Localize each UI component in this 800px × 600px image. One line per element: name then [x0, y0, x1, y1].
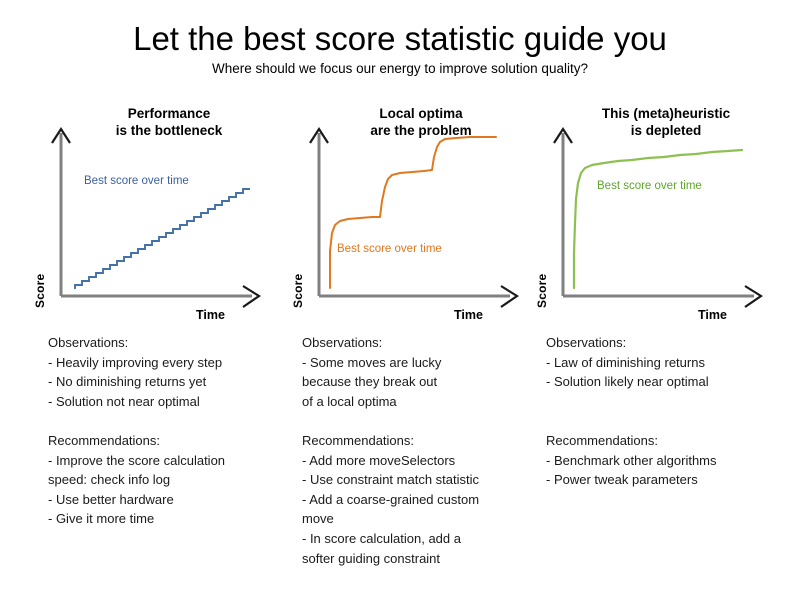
chart-performance-bottleneck: Score Time Best score over time — [30, 113, 290, 313]
list-item: - In score calculation, add a — [302, 529, 540, 549]
x-axis-label: Time — [698, 308, 727, 322]
notes-spacer — [302, 411, 540, 431]
list-item: - Solution likely near optimal — [546, 372, 790, 392]
page-title: Let the best score statistic guide you — [0, 18, 800, 60]
panel-performance-bottleneck: Performance is the bottleneck Score Time… — [30, 105, 290, 585]
series-label-best-score: Best score over time — [597, 180, 702, 192]
list-item: - Add a coarse-grained custom — [302, 490, 540, 510]
list-item: - No diminishing returns yet — [48, 372, 298, 392]
y-axis-label: Score — [535, 274, 549, 308]
list-item: - Law of diminishing returns — [546, 353, 790, 373]
notes-block: Observations: - Law of diminishing retur… — [546, 333, 790, 490]
chart-svg — [288, 113, 548, 313]
notes-spacer — [48, 411, 298, 431]
list-item: - Use constraint match statistic — [302, 470, 540, 490]
page-subtitle: Where should we focus our energy to impr… — [0, 60, 800, 78]
list-item: - Solution not near optimal — [48, 392, 298, 412]
observations-list: - Law of diminishing returns - Solution … — [546, 353, 790, 392]
recommendations-heading: Recommendations: — [302, 431, 540, 451]
observations-list: - Heavily improving every step - No dimi… — [48, 353, 298, 412]
observations-heading: Observations: — [546, 333, 790, 353]
chart-svg — [30, 113, 290, 313]
series-line-best-score — [75, 189, 250, 289]
chart-local-optima: Score Time Best score over time — [288, 113, 548, 313]
list-item: of a local optima — [302, 392, 540, 412]
list-item: - Give it more time — [48, 509, 298, 529]
list-item: speed: check info log — [48, 470, 298, 490]
y-axis-label: Score — [33, 274, 47, 308]
list-item: - Add more moveSelectors — [302, 451, 540, 471]
recommendations-heading: Recommendations: — [546, 431, 790, 451]
chart-svg — [532, 113, 792, 313]
x-axis-label: Time — [196, 308, 225, 322]
observations-heading: Observations: — [48, 333, 298, 353]
list-item: - Power tweak parameters — [546, 470, 790, 490]
chart-heuristic-depleted: Score Time Best score over time — [532, 113, 792, 313]
panel-heuristic-depleted: This (meta)heuristic is depleted Score T… — [532, 105, 792, 585]
x-axis-label: Time — [454, 308, 483, 322]
list-item: softer guiding constraint — [302, 549, 540, 569]
list-item: - Improve the score calculation — [48, 451, 298, 471]
recommendations-heading: Recommendations: — [48, 431, 298, 451]
recommendations-list: - Improve the score calculation speed: c… — [48, 451, 298, 529]
list-item: because they break out — [302, 372, 540, 392]
series-line-best-score — [574, 150, 742, 288]
notes-block: Observations: - Heavily improving every … — [48, 333, 298, 529]
panel-local-optima: Local optima are the problem Score Time … — [288, 105, 548, 585]
notes-spacer — [546, 411, 790, 431]
notes-spacer — [546, 392, 790, 412]
notes-block: Observations: - Some moves are lucky bec… — [302, 333, 540, 568]
series-line-best-score — [330, 137, 496, 288]
list-item: - Use better hardware — [48, 490, 298, 510]
series-label-best-score: Best score over time — [337, 243, 442, 255]
list-item: move — [302, 509, 540, 529]
list-item: - Heavily improving every step — [48, 353, 298, 373]
recommendations-list: - Add more moveSelectors - Use constrain… — [302, 451, 540, 569]
list-item: - Benchmark other algorithms — [546, 451, 790, 471]
list-item: - Some moves are lucky — [302, 353, 540, 373]
y-axis-label: Score — [291, 274, 305, 308]
observations-list: - Some moves are lucky because they brea… — [302, 353, 540, 412]
recommendations-list: - Benchmark other algorithms - Power twe… — [546, 451, 790, 490]
series-label-best-score: Best score over time — [84, 175, 189, 187]
observations-heading: Observations: — [302, 333, 540, 353]
